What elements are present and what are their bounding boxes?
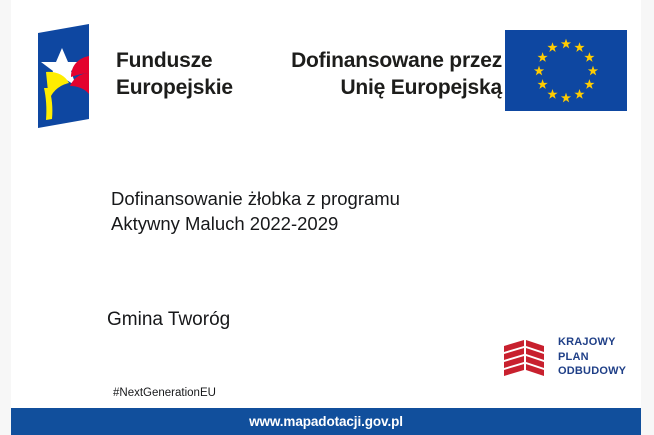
- footer-bar: www.mapadotacji.gov.pl: [11, 408, 641, 435]
- project-title: Dofinansowanie żłobka z programu Aktywny…: [111, 186, 531, 236]
- kpo-line-2: PLAN: [558, 350, 626, 365]
- footer-url[interactable]: www.mapadotacji.gov.pl: [11, 408, 641, 435]
- beneficiary-name: Gmina Tworóg: [107, 307, 507, 332]
- kpo-line-3: ODBUDOWY: [558, 364, 626, 379]
- fundusze-line-2: Europejskie: [116, 74, 256, 101]
- fundusze-europejskie-wordmark: Fundusze Europejskie: [116, 47, 256, 101]
- krajowy-plan-odbudowy-wordmark: KRAJOWY PLAN ODBUDOWY: [558, 335, 626, 379]
- fundusze-europejskie-star-mark-icon: [38, 24, 95, 128]
- funding-poster: Fundusze Europejskie Dofinansowane przez…: [11, 0, 641, 435]
- next-generation-eu-hashtag: #NextGenerationEU: [113, 386, 216, 401]
- krajowy-plan-odbudowy-building-mark-icon: [500, 337, 550, 381]
- european-union-flag-icon: [505, 30, 627, 111]
- header-logo-strip: Fundusze Europejskie Dofinansowane przez…: [11, 0, 641, 140]
- kpo-line-1: KRAJOWY: [558, 335, 626, 350]
- eu-funding-caption: Dofinansowane przez Unię Europejską: [251, 47, 502, 101]
- eu-caption-line-1: Dofinansowane przez: [251, 47, 502, 74]
- eu-caption-line-2: Unię Europejską: [251, 74, 502, 101]
- fundusze-line-1: Fundusze: [116, 47, 256, 74]
- project-title-line-2: Aktywny Maluch 2022-2029: [111, 211, 531, 236]
- project-title-line-1: Dofinansowanie żłobka z programu: [111, 186, 531, 211]
- krajowy-plan-odbudowy-logo: KRAJOWY PLAN ODBUDOWY: [500, 333, 635, 385]
